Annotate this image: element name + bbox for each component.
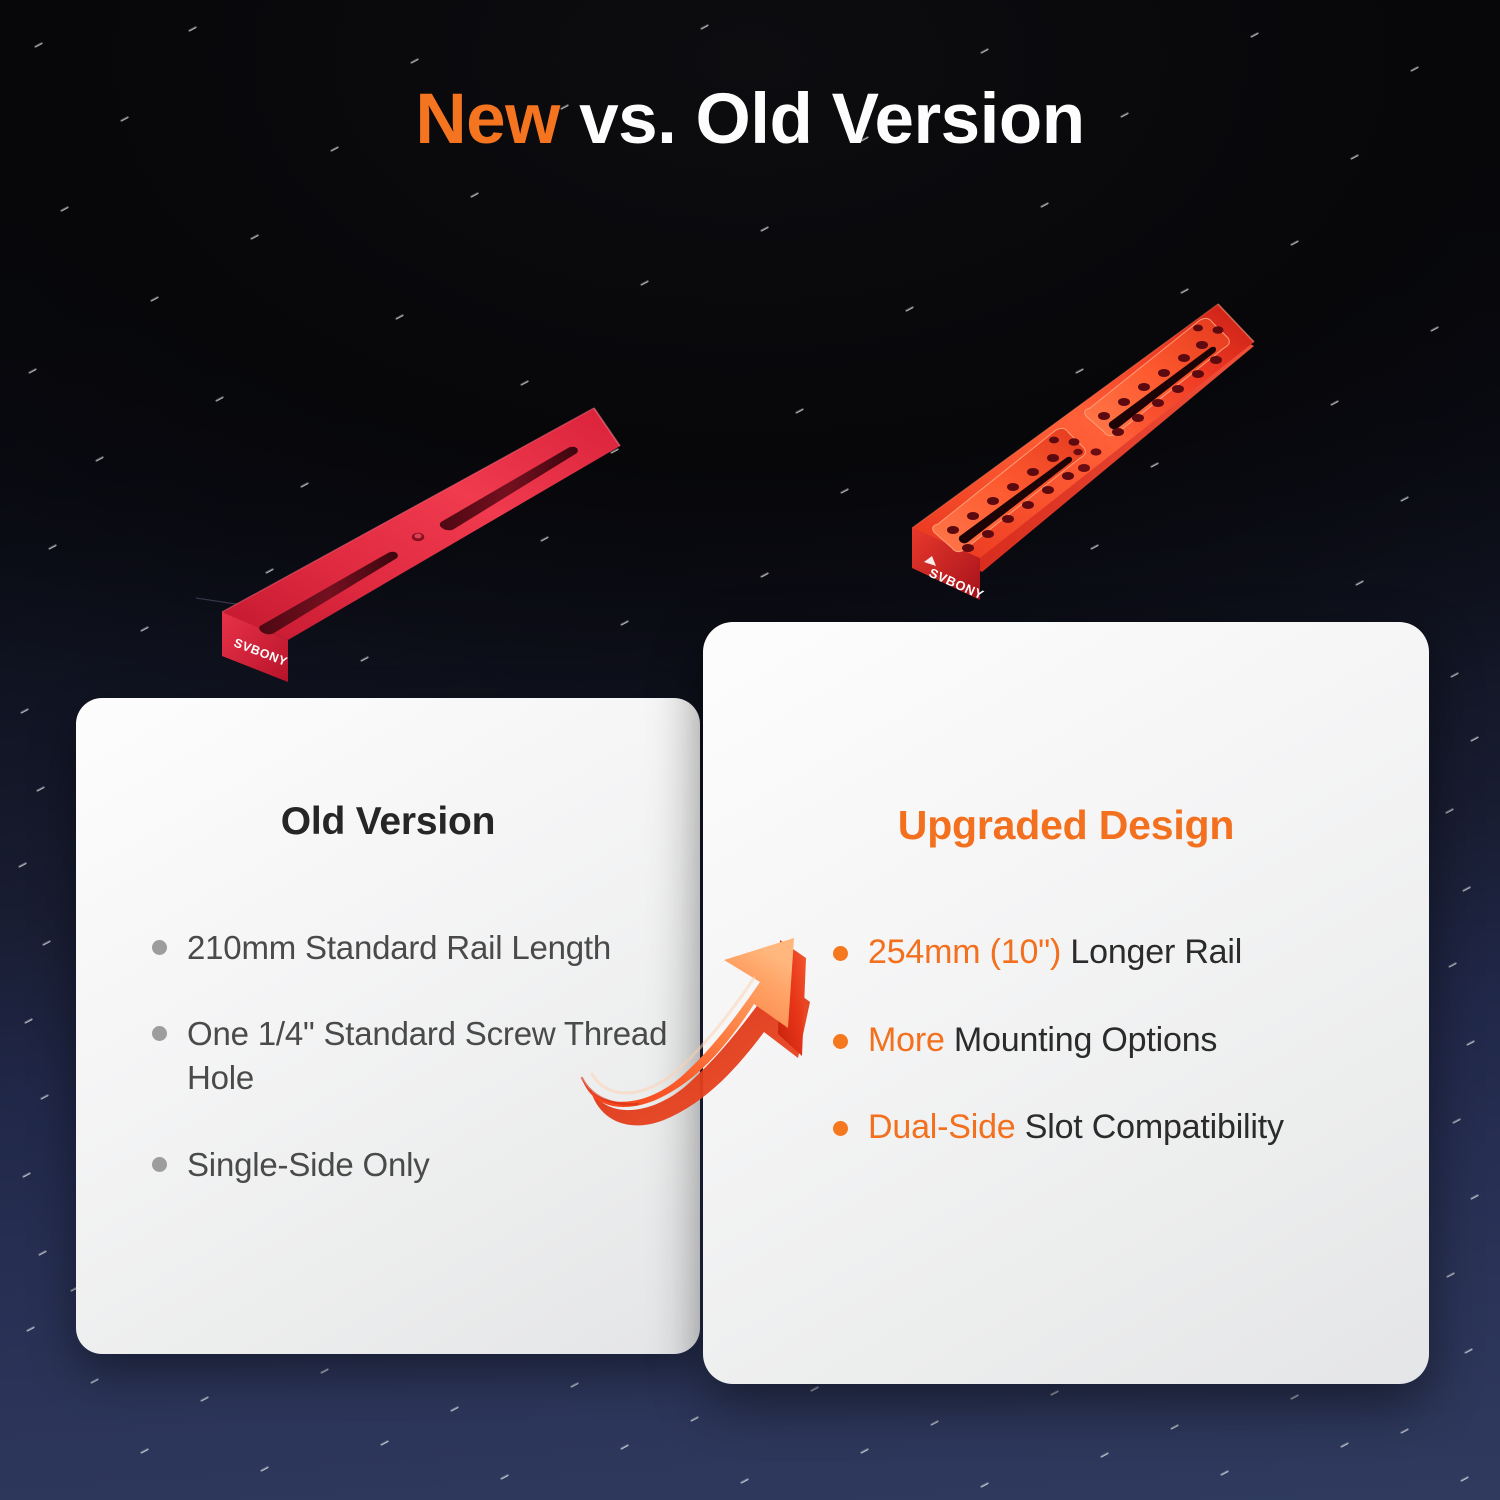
product-image-old-rail: SVBONY (196, 390, 626, 690)
list-item-label: Dual-Side Slot Compatibility (868, 1105, 1284, 1151)
list-item-label: One 1/4" Standard Screw Thread Hole (187, 1012, 672, 1100)
page-title-accent: New (415, 80, 560, 159)
card-heading-new: Upgraded Design (703, 802, 1429, 849)
list-item-highlight: Dual-Side (868, 1108, 1016, 1146)
bullet-dot-icon (152, 1157, 167, 1172)
list-item: 210mm Standard Rail Length (152, 926, 672, 970)
list-item-label: 254mm (10") Longer Rail (868, 930, 1242, 976)
list-item: Single-Side Only (152, 1143, 672, 1187)
product-image-new-rail: SVBONY (888, 300, 1288, 620)
list-item: 254mm (10") Longer Rail (833, 930, 1413, 976)
list-item: One 1/4" Standard Screw Thread Hole (152, 1012, 672, 1100)
bullet-dot-icon (152, 1026, 167, 1041)
page-title-plain: vs. Old Version (560, 80, 1085, 159)
list-item: More Mounting Options (833, 1018, 1413, 1064)
card-heading-old: Old Version (76, 800, 700, 844)
list-item-rest: Longer Rail (1061, 933, 1242, 971)
brand-label-old: SVBONY (232, 636, 290, 669)
comparison-card-new: Upgraded Design 254mm (10") Longer Rail … (703, 622, 1429, 1384)
list-item-highlight: 254mm (10") (868, 933, 1061, 971)
comparison-card-old: Old Version 210mm Standard Rail Length O… (76, 698, 700, 1354)
feature-list-old: 210mm Standard Rail Length One 1/4" Stan… (152, 926, 672, 1187)
list-item-label: 210mm Standard Rail Length (187, 926, 611, 970)
list-item-label: Single-Side Only (187, 1143, 430, 1187)
list-item-highlight: More (868, 1021, 945, 1059)
list-item: Dual-Side Slot Compatibility (833, 1105, 1413, 1151)
bullet-dot-icon (152, 940, 167, 955)
list-item-label: More Mounting Options (868, 1018, 1217, 1064)
bullet-dot-icon (833, 1121, 848, 1136)
infographic-canvas: New vs. Old Version (0, 0, 1500, 1500)
bullet-dot-icon (833, 1034, 848, 1049)
list-item-rest: Mounting Options (945, 1021, 1218, 1059)
brand-logo-mark-new (924, 556, 936, 566)
bullet-dot-icon (833, 946, 848, 961)
brand-label-new: SVBONY (927, 565, 987, 603)
feature-list-new: 254mm (10") Longer Rail More Mounting Op… (833, 930, 1413, 1151)
list-item-rest: Slot Compatibility (1016, 1108, 1284, 1146)
page-title: New vs. Old Version (0, 84, 1500, 155)
